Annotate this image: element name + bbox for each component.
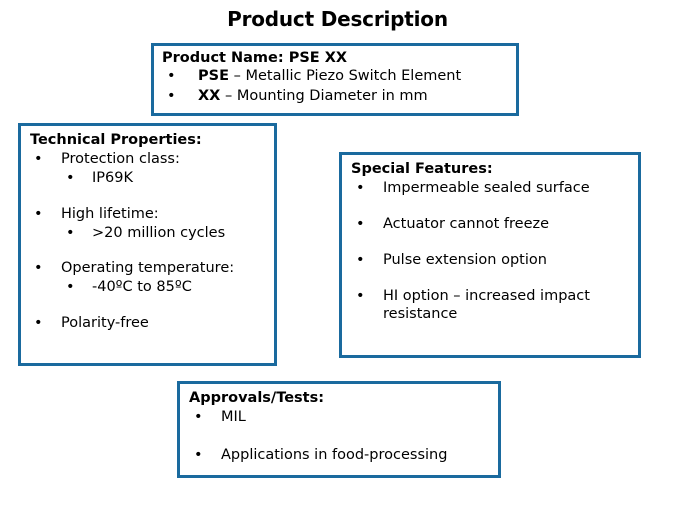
list-item: • Actuator cannot freeze (351, 215, 638, 234)
list-item: • Operating temperature: (30, 259, 274, 278)
list-item-keyword: PSE (198, 68, 229, 84)
list-item: • Pulse extension option (351, 251, 638, 270)
page-title: Product Description (0, 7, 675, 31)
list-item-rest: – Mounting Diameter in mm (220, 88, 427, 104)
product-name-box: Product Name: PSE XX • PSE – Metallic Pi… (151, 43, 519, 116)
list-item: • -40ºC to 85ºC (30, 278, 274, 297)
bullet-icon: • (34, 259, 43, 278)
list-item: • Impermeable sealed surface (351, 179, 638, 198)
list-item: • MIL (189, 408, 498, 427)
list-item-rest: – Metallic Piezo Switch Element (229, 68, 461, 84)
list-item-text: MIL (221, 408, 498, 427)
list-item: • IP69K (30, 169, 274, 188)
product-name-heading: Product Name: PSE XX (162, 50, 516, 66)
bullet-icon: • (34, 205, 43, 224)
list-item-text: Polarity-free (61, 314, 274, 333)
approvals-tests-box: Approvals/Tests: • MIL • Applications in… (177, 381, 501, 478)
list-item: • Protection class: (30, 150, 274, 169)
special-features-box: Special Features: • Impermeable sealed s… (339, 152, 641, 358)
bullet-icon: • (66, 169, 75, 188)
list-item-text: Impermeable sealed surface (383, 179, 638, 198)
bullet-icon: • (34, 314, 43, 333)
list-item: • XX – Mounting Diameter in mm (162, 87, 516, 106)
bullet-icon: • (167, 87, 176, 106)
list-item: • HI option – increased impact resistanc… (351, 287, 638, 325)
bullet-icon: • (356, 179, 365, 198)
list-item-text: >20 million cycles (92, 224, 274, 243)
approvals-tests-heading: Approvals/Tests: (189, 390, 498, 406)
special-features-heading: Special Features: (351, 161, 638, 177)
bullet-icon: • (66, 278, 75, 297)
bullet-icon: • (194, 446, 203, 465)
list-item: • >20 million cycles (30, 224, 274, 243)
list-item: • Polarity-free (30, 314, 274, 333)
bullet-icon: • (356, 215, 365, 234)
bullet-icon: • (66, 224, 75, 243)
list-item-text: Protection class: (61, 150, 274, 169)
list-item: • PSE – Metallic Piezo Switch Element (162, 67, 516, 86)
technical-properties-box: Technical Properties: • Protection class… (18, 123, 277, 366)
approvals-tests-list: • MIL • Applications in food-processing (189, 408, 498, 465)
bullet-icon: • (356, 287, 365, 306)
list-item-text: Actuator cannot freeze (383, 215, 638, 234)
list-item-text: Operating temperature: (61, 259, 274, 278)
bullet-icon: • (34, 150, 43, 169)
special-features-list: • Impermeable sealed surface • Actuator … (351, 179, 638, 324)
list-item-keyword: XX (198, 88, 220, 104)
bullet-icon: • (167, 67, 176, 86)
list-item-text: -40ºC to 85ºC (92, 278, 274, 297)
list-item-text: Pulse extension option (383, 251, 638, 270)
technical-properties-heading: Technical Properties: (30, 132, 274, 148)
list-item: • Applications in food-processing (189, 446, 498, 465)
list-item: • High lifetime: (30, 205, 274, 224)
slide-canvas: Product Description Product Name: PSE XX… (0, 0, 675, 506)
list-item-text: IP69K (92, 169, 274, 188)
bullet-icon: • (356, 251, 365, 270)
list-item-text: XX – Mounting Diameter in mm (198, 87, 516, 106)
list-item-text: PSE – Metallic Piezo Switch Element (198, 67, 516, 86)
list-item-text: Applications in food-processing (221, 446, 498, 465)
list-item-text: High lifetime: (61, 205, 274, 224)
list-item-text: HI option – increased impact resistance (383, 287, 638, 325)
product-name-list: • PSE – Metallic Piezo Switch Element • … (162, 67, 516, 105)
bullet-icon: • (194, 408, 203, 427)
technical-properties-list: • Protection class: • IP69K • High lifet… (30, 150, 274, 333)
